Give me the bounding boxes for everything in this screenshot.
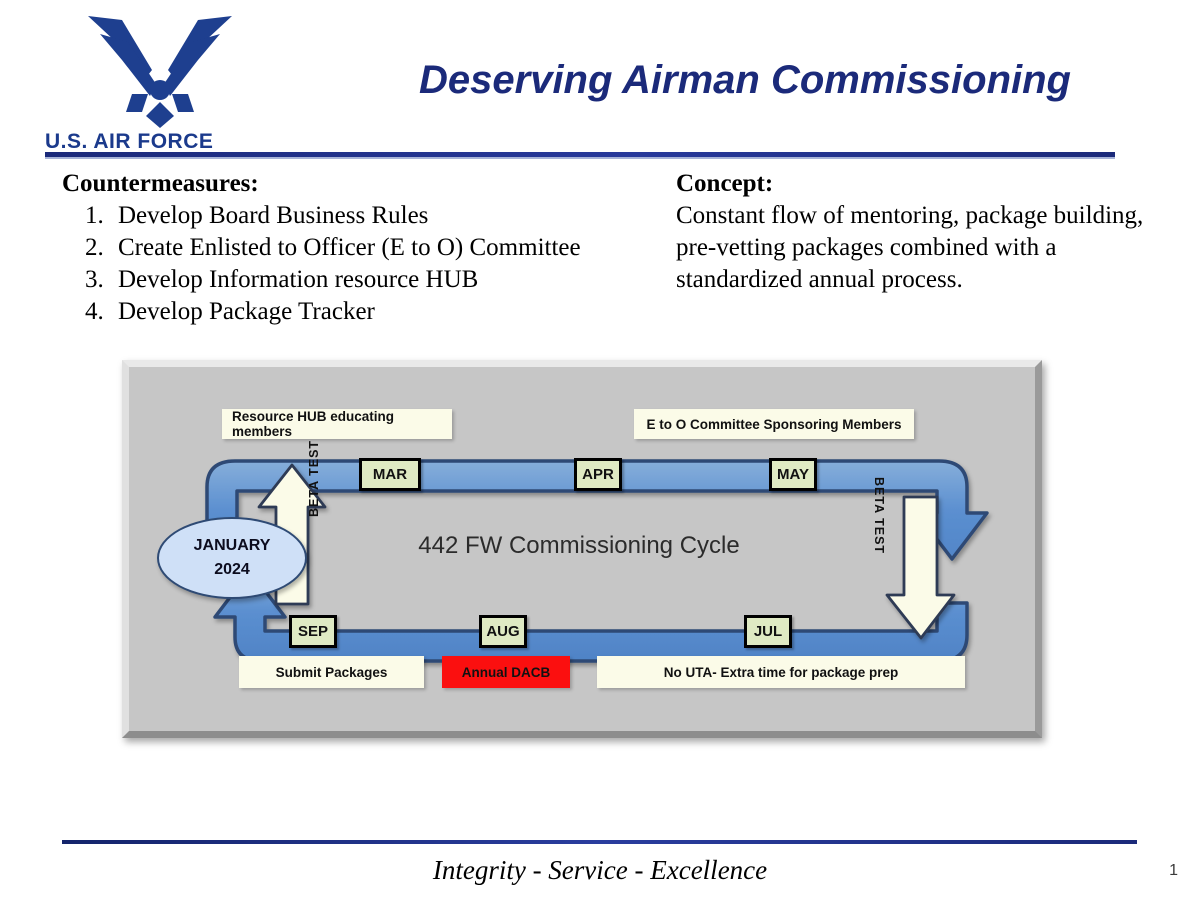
diagram-inner: 442 FW Commissioning Cycle JANUARY 2024 …: [129, 367, 1035, 731]
page-number: 1: [1169, 862, 1178, 880]
month-chip-mar[interactable]: MAR: [359, 458, 421, 491]
concept-body: Constant flow of mentoring, package buil…: [676, 200, 1166, 296]
list-item: Develop Board Business Rules: [110, 200, 662, 232]
list-item: Create Enlisted to Officer (E to O) Comm…: [110, 232, 662, 264]
countermeasures-list: Develop Board Business Rules Create Enli…: [62, 200, 662, 328]
start-node-january: JANUARY 2024: [157, 517, 307, 599]
note-e-to-o-committee: E to O Committee Sponsoring Members: [634, 409, 914, 439]
concept-heading: Concept:: [676, 170, 1166, 198]
usaf-hap-arnold-wings-logo: [70, 8, 250, 128]
cycle-center-label: 442 FW Commissioning Cycle: [379, 532, 779, 560]
list-item: Develop Information resource HUB: [110, 264, 662, 296]
month-chip-jul[interactable]: JUL: [744, 615, 792, 648]
month-chip-sep[interactable]: SEP: [289, 615, 337, 648]
concept-section: Concept: Constant flow of mentoring, pac…: [676, 170, 1166, 296]
header-divider: [45, 152, 1115, 157]
month-chip-apr[interactable]: APR: [574, 458, 622, 491]
note-annual-dacb: Annual DACB: [442, 656, 570, 688]
slide-canvas: U.S. AIR FORCE Deserving Airman Commissi…: [0, 0, 1200, 900]
note-submit-packages: Submit Packages: [239, 656, 424, 688]
commissioning-cycle-diagram: 442 FW Commissioning Cycle JANUARY 2024 …: [122, 360, 1042, 738]
footer-divider: [62, 840, 1137, 844]
countermeasures-heading: Countermeasures:: [62, 170, 662, 198]
page-title: Deserving Airman Commissioning: [330, 58, 1160, 103]
beta-test-right-label: BETA TEST: [872, 477, 886, 554]
note-no-uta: No UTA- Extra time for package prep: [597, 656, 965, 688]
month-chip-may[interactable]: MAY: [769, 458, 817, 491]
countermeasures-section: Countermeasures: Develop Board Business …: [62, 170, 662, 328]
start-node-month: JANUARY: [194, 534, 271, 558]
note-resource-hub: Resource HUB educating members: [222, 409, 452, 439]
footer-motto: Integrity - Service - Excellence: [0, 855, 1200, 886]
list-item: Develop Package Tracker: [110, 296, 662, 328]
usaf-wordmark: U.S. AIR FORCE: [45, 130, 213, 154]
beta-test-left-label: BETA TEST: [307, 440, 321, 517]
month-chip-aug[interactable]: AUG: [479, 615, 527, 648]
start-node-year: 2024: [214, 558, 250, 582]
